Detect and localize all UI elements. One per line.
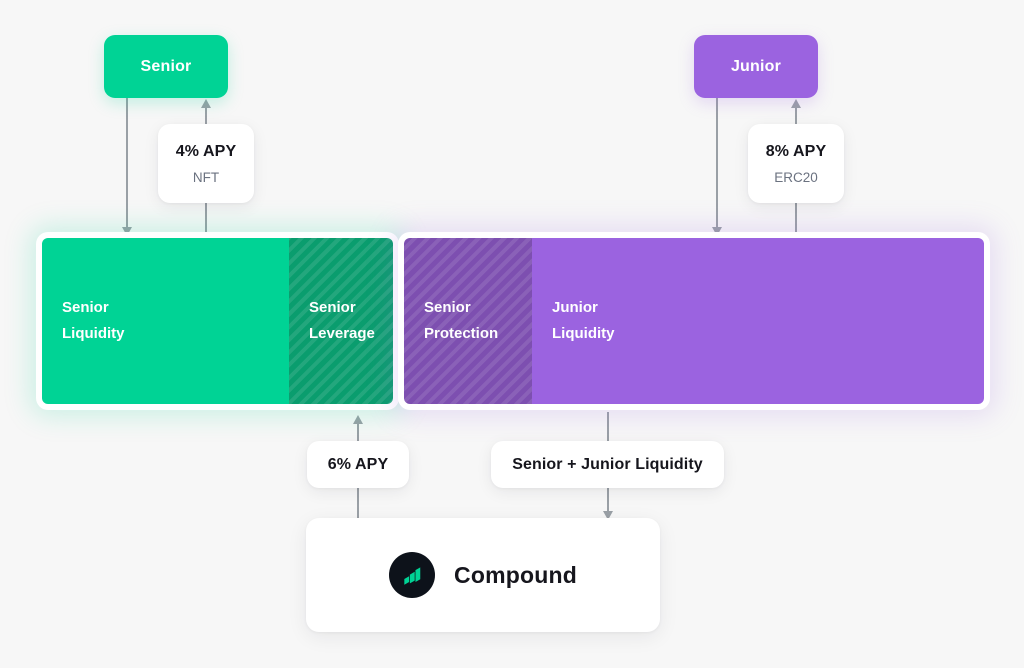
junior-deposit-line (716, 98, 718, 228)
senior-apy-token-type: NFT (193, 170, 219, 185)
junior-bar-group: Senior Protection Junior Liquidity (398, 232, 990, 410)
junior-tranche-badge[interactable]: Junior (694, 35, 818, 98)
junior-apy-token-type: ERC20 (774, 170, 818, 185)
bar-senior-liquidity[interactable]: Senior Liquidity (42, 238, 289, 404)
bar-label-line1: Senior (62, 295, 125, 321)
bar-label-line1: Junior (552, 295, 615, 321)
liquidity-flow-label: Senior + Junior Liquidity (512, 456, 703, 474)
diagram-canvas: Senior Junior 4% APY NFT 8% APY ERC20 6%… (0, 0, 1024, 668)
bar-senior-leverage[interactable]: Senior Leverage (289, 238, 393, 404)
bar-label-line2: Liquidity (62, 321, 125, 347)
senior-apy-card: 4% APY NFT (158, 124, 254, 203)
bar-junior-liquidity-label: Junior Liquidity (532, 295, 615, 347)
compound-protocol-card[interactable]: Compound (306, 518, 660, 632)
bar-senior-liquidity-label: Senior Liquidity (42, 295, 125, 347)
bar-senior-leverage-label: Senior Leverage (289, 295, 375, 347)
senior-apy-value: 4% APY (176, 143, 236, 161)
bar-senior-protection[interactable]: Senior Protection (404, 238, 532, 404)
bar-label-line2: Leverage (309, 321, 375, 347)
liquidity-flow-card: Senior + Junior Liquidity (491, 441, 724, 488)
compound-yield-arrow-up-icon (353, 415, 363, 424)
senior-yield-arrow-up-icon (201, 99, 211, 108)
bar-label-line2: Protection (424, 321, 498, 347)
bar-label-line1: Senior (309, 295, 375, 321)
compound-apy-card: 6% APY (307, 441, 409, 488)
senior-bar-group: Senior Liquidity Senior Leverage (36, 232, 399, 410)
bar-senior-protection-label: Senior Protection (404, 295, 498, 347)
bar-junior-liquidity[interactable]: Junior Liquidity (532, 238, 984, 404)
senior-tranche-label: Senior (141, 58, 192, 76)
junior-apy-value: 8% APY (766, 143, 826, 161)
bar-label-line1: Senior (424, 295, 498, 321)
senior-deposit-line (126, 98, 128, 228)
senior-tranche-badge[interactable]: Senior (104, 35, 228, 98)
compound-protocol-name: Compound (454, 562, 577, 589)
compound-apy-value: 6% APY (328, 456, 388, 474)
junior-tranche-label: Junior (731, 58, 781, 76)
bar-label-line2: Liquidity (552, 321, 615, 347)
junior-apy-card: 8% APY ERC20 (748, 124, 844, 203)
compound-logo-icon (389, 552, 435, 598)
junior-yield-arrow-up-icon (791, 99, 801, 108)
